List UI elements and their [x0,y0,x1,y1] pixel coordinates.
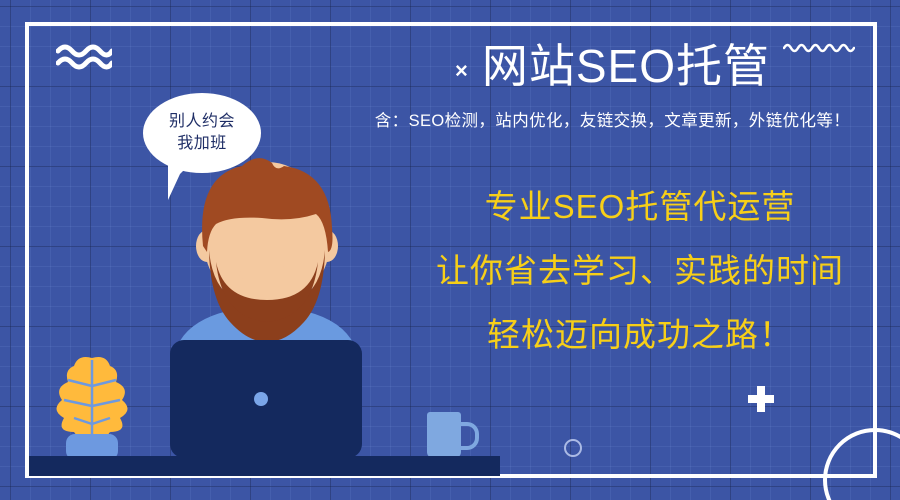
potted-plant [48,352,136,464]
laptop-logo-dot [254,392,268,406]
mouth-shape [239,265,295,283]
speech-bubble: 别人约会 我加班 [143,93,261,173]
mug-handle [458,422,479,450]
speech-bubble-line: 我加班 [177,133,227,155]
laptop [170,340,362,458]
speech-bubble-line: 别人约会 [169,111,235,133]
coffee-mug [427,412,461,458]
seo-hosting-banner: × 网站SEO托管 含：SEO检测，站内优化，友链交换，文章更新，外链优化等！ … [0,0,900,500]
desk-surface [29,456,500,476]
